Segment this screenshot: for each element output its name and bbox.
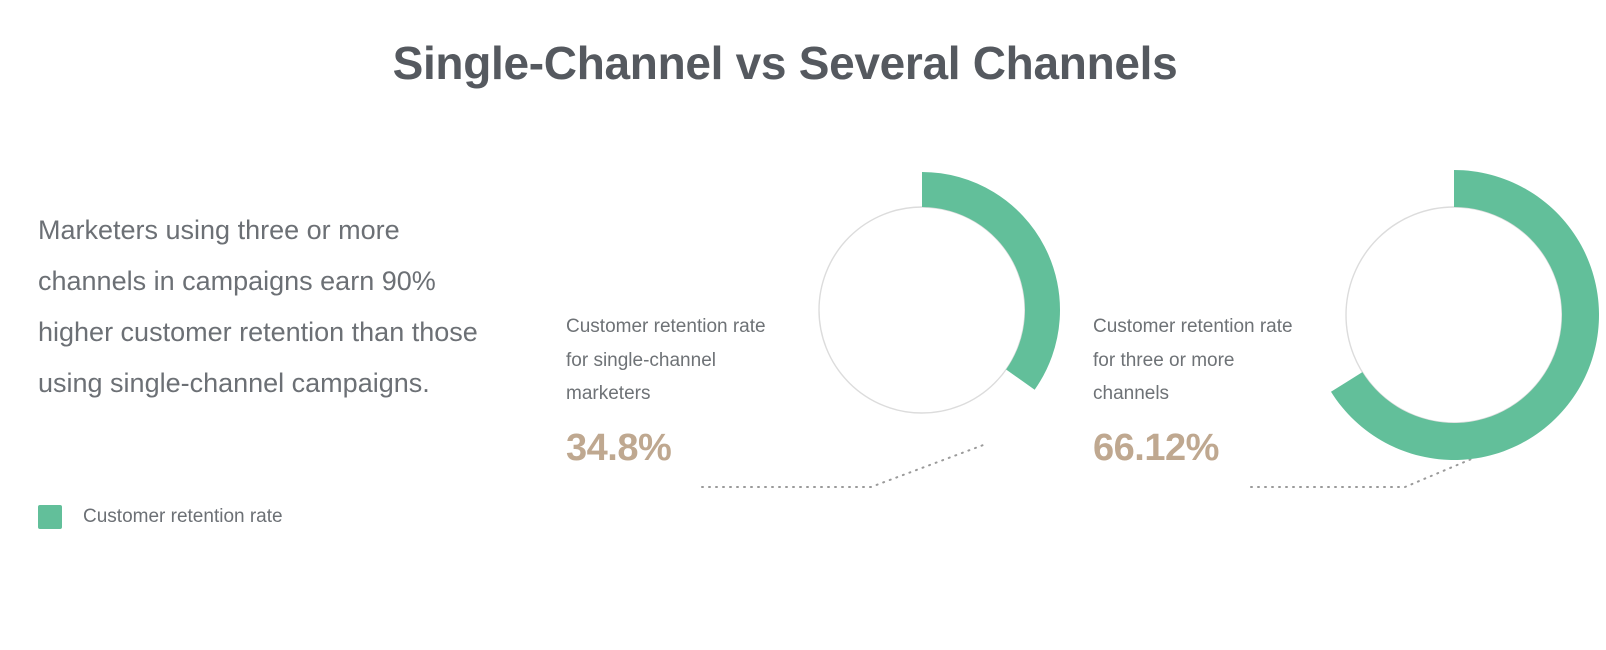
legend-label: Customer retention rate xyxy=(83,506,283,528)
donut-chart-single-channel xyxy=(782,170,1062,450)
donut-track-circle xyxy=(1346,207,1562,423)
legend: Customer retention rate xyxy=(38,505,283,529)
description-panel: Marketers using three or more channels i… xyxy=(38,205,478,409)
metric-caption: Customer retention rate for single-chann… xyxy=(566,310,766,411)
legend-swatch-icon xyxy=(38,505,62,529)
donut-value-arc xyxy=(1331,170,1599,460)
donut-track-circle xyxy=(819,207,1025,413)
metric-text-block: Customer retention rate for three or mor… xyxy=(1093,310,1293,470)
metric-caption: Customer retention rate for three or mor… xyxy=(1093,310,1293,411)
donut-chart-multi-channel xyxy=(1309,170,1599,460)
description-text: Marketers using three or more channels i… xyxy=(38,205,478,409)
infographic-root: Single-Channel vs Several Channels Marke… xyxy=(0,0,1606,650)
donut-value-arc xyxy=(922,172,1060,390)
metric-value: 34.8% xyxy=(566,427,766,470)
page-title: Single-Channel vs Several Channels xyxy=(0,36,1570,90)
metric-value: 66.12% xyxy=(1093,427,1293,470)
metric-text-block: Customer retention rate for single-chann… xyxy=(566,310,766,470)
